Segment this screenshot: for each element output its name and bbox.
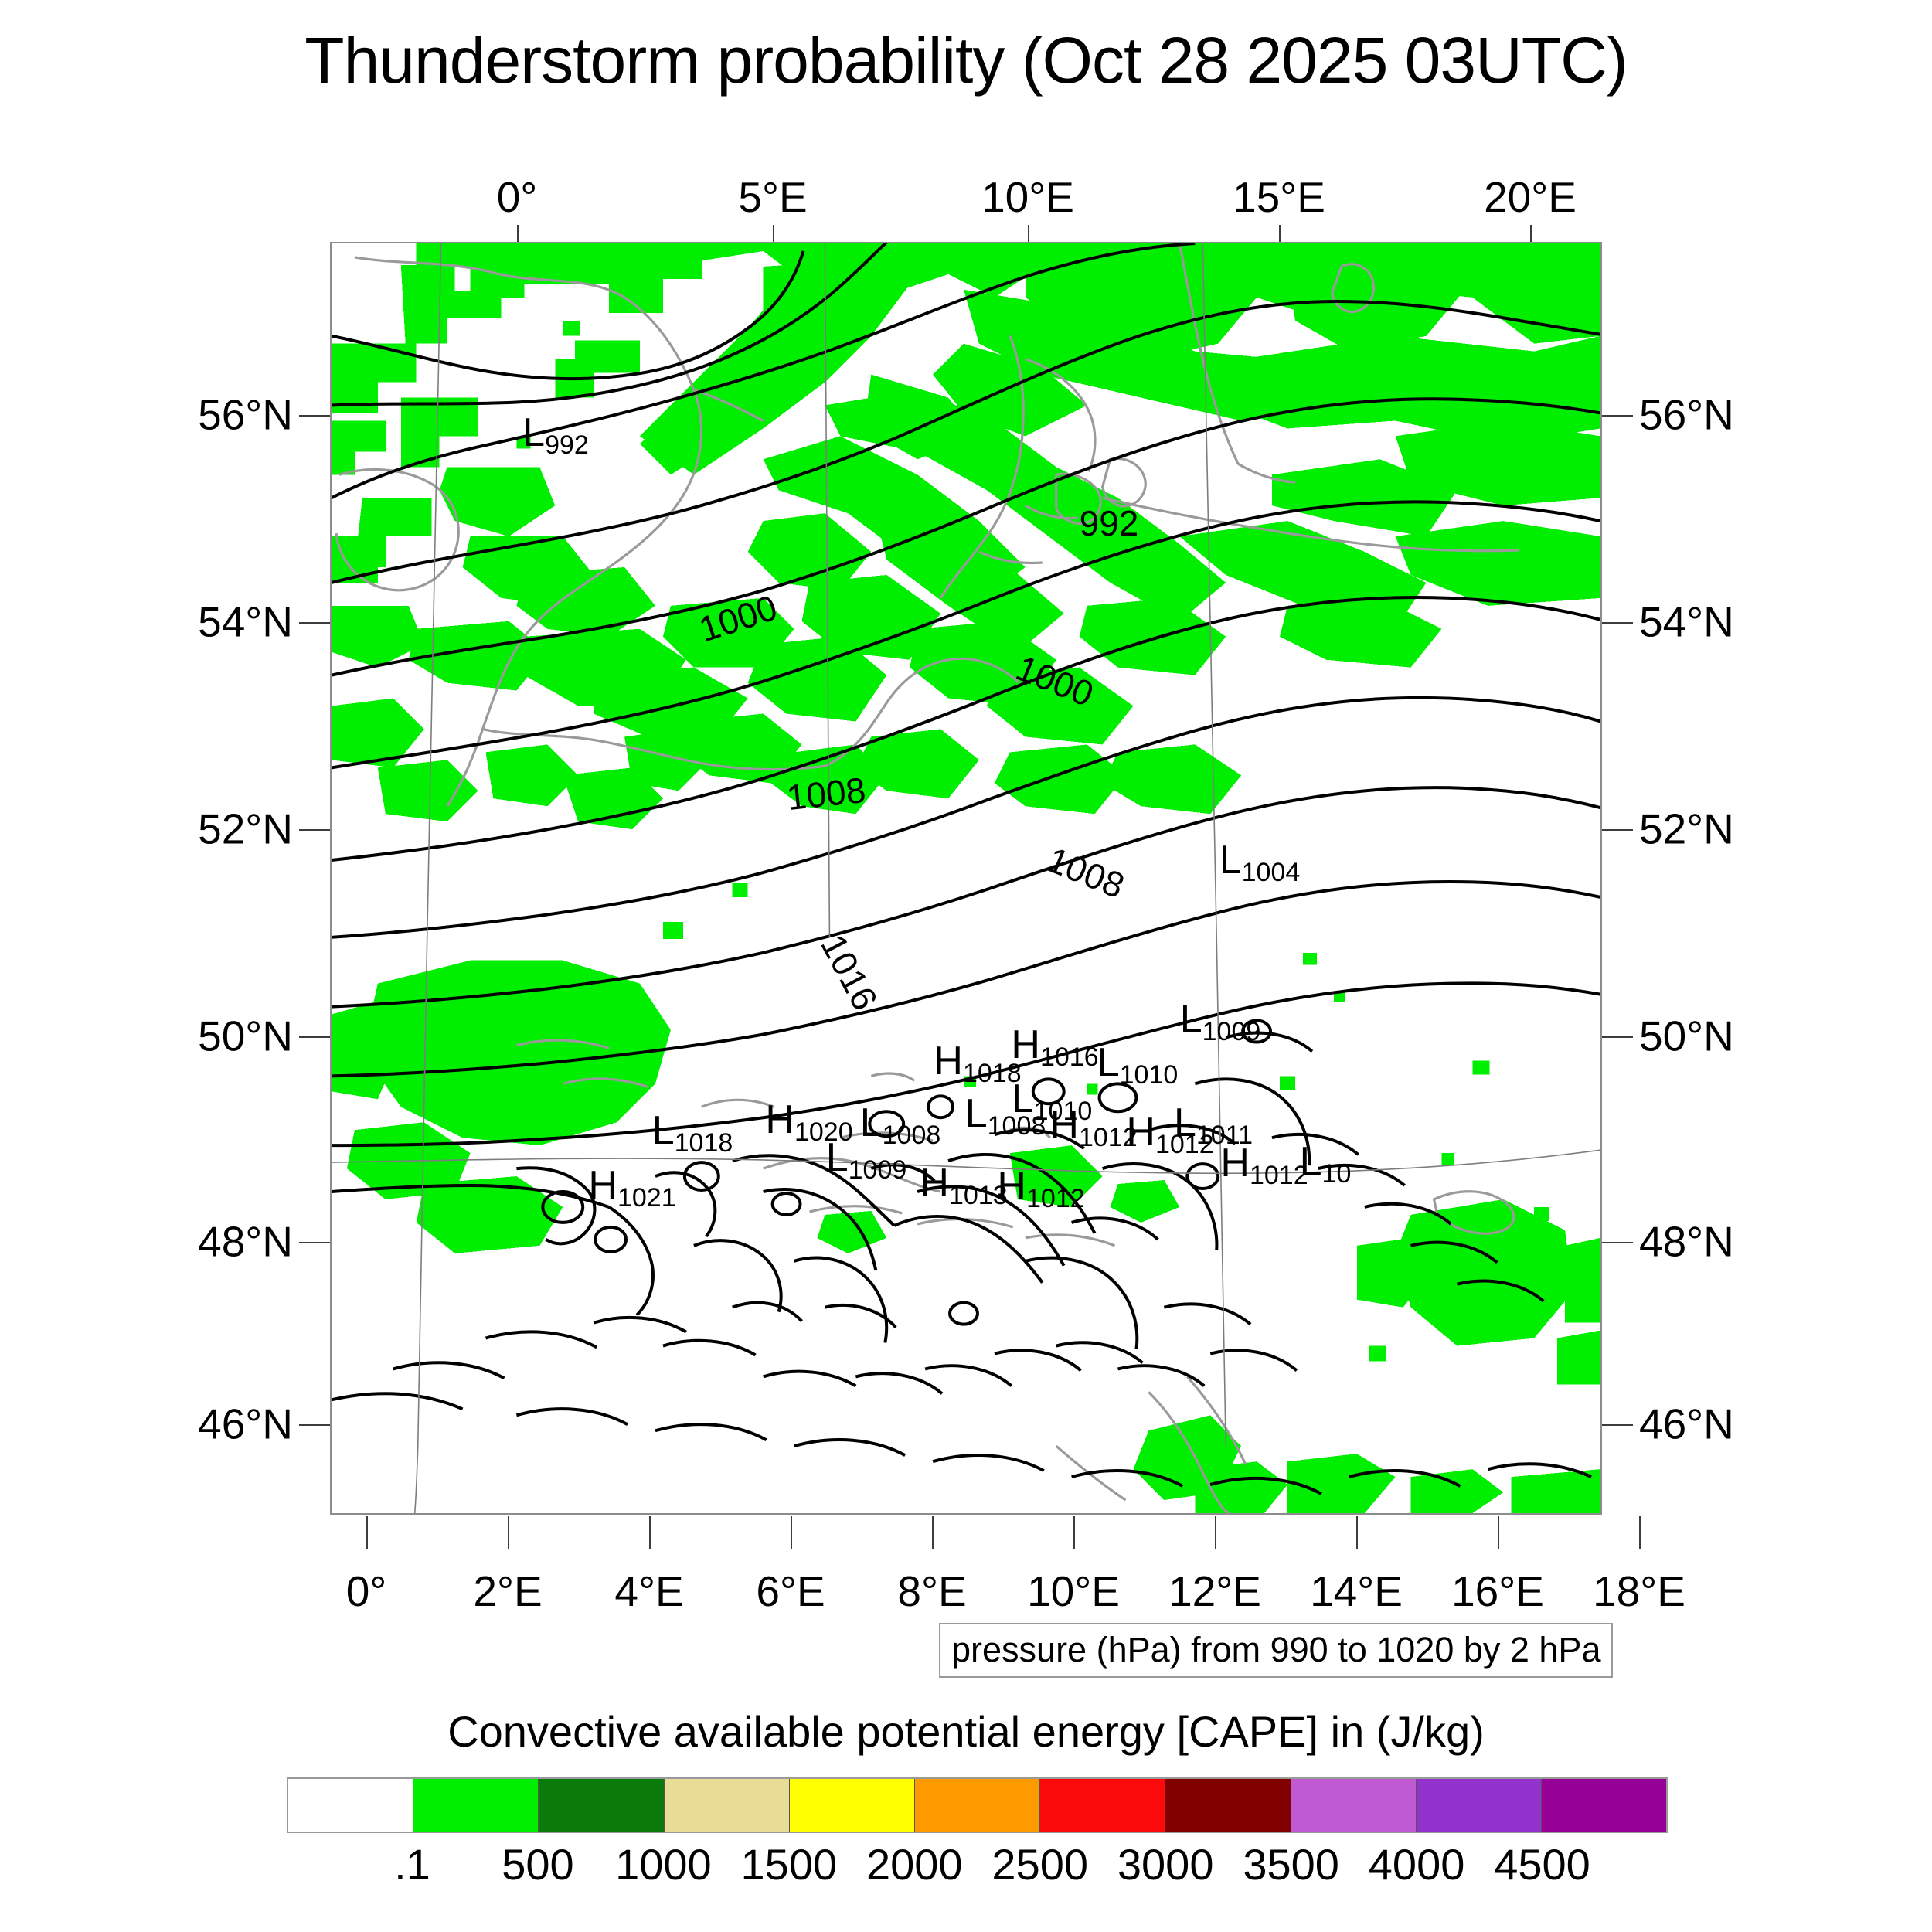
axis-tick [649,1516,651,1549]
lon-label-bottom-5: 10°E [1027,1570,1120,1613]
map-plot-area: 99210001000100810081016 L992L1004L1009H1… [330,242,1602,1515]
lat-label-right-4: 48°N [1639,1221,1734,1264]
colorbar-label-7: 3500 [1243,1843,1339,1886]
lat-label-left-3: 50°N [198,1015,293,1058]
axis-tick [299,1424,330,1426]
axis-tick [299,829,330,831]
colorbar-label-1: 500 [502,1843,573,1886]
lon-label-top-4: 20°E [1484,176,1577,219]
lon-label-bottom-8: 16°E [1451,1570,1544,1613]
lat-label-right-3: 50°N [1639,1015,1734,1058]
colorbar-segment-2 [538,1779,663,1832]
lon-label-bottom-6: 12°E [1168,1570,1261,1613]
colorbar-label-3: 1500 [741,1843,838,1886]
colorbar-segment-3 [664,1779,789,1832]
axis-tick [1602,622,1633,624]
axis-tick [1602,1036,1633,1038]
colorbar-segment-9 [1416,1779,1541,1832]
lat-label-right-0: 56°N [1639,394,1734,437]
lat-label-left-2: 52°N [198,808,293,851]
lon-label-top-3: 15°E [1233,176,1325,219]
axis-tick [1602,829,1633,831]
colorbar-label-9: 4500 [1494,1843,1590,1886]
axis-tick [1530,225,1532,242]
colorbar-segment-5 [914,1779,1039,1832]
colorbar-title: Convective available potential energy [C… [0,1706,1932,1757]
colorbar-segment-6 [1039,1779,1165,1832]
lon-label-top-1: 5°E [738,176,807,219]
axis-tick [299,1036,330,1038]
axis-tick [791,1516,792,1549]
axis-tick [1028,225,1029,242]
axis-tick [299,415,330,417]
lat-label-right-5: 46°N [1639,1403,1734,1446]
colorbar-label-4: 2000 [866,1843,963,1886]
axis-tick [1215,1516,1216,1549]
page-title: Thunderstorm probability (Oct 28 2025 03… [0,23,1932,98]
lat-label-left-1: 54°N [198,601,293,644]
pressure-caption: pressure (hPa) from 990 to 1020 by 2 hPa [939,1623,1613,1678]
axis-tick [299,1242,330,1243]
lat-label-left-5: 46°N [198,1403,293,1446]
colorbar-tick-labels: .150010001500200025003000350040004500 [287,1843,1668,1897]
colorbar-label-2: 1000 [615,1843,712,1886]
axis-tick [517,225,519,242]
lon-label-top-2: 10°E [981,176,1074,219]
lon-label-bottom-4: 8°E [897,1570,966,1613]
axis-tick [1073,1516,1075,1549]
lon-label-bottom-7: 14°E [1310,1570,1403,1613]
lon-label-bottom-9: 18°E [1593,1570,1685,1613]
colorbar-label-0: .1 [394,1843,430,1886]
axis-tick [1279,225,1281,242]
axis-tick [1602,1242,1633,1243]
lat-label-left-0: 56°N [198,394,293,437]
lon-label-bottom-1: 2°E [473,1570,542,1613]
colorbar-label-5: 2500 [992,1843,1088,1886]
map-frame [330,242,1602,1515]
lat-label-right-2: 52°N [1639,808,1734,851]
lon-label-bottom-2: 4°E [614,1570,683,1613]
lon-label-top-0: 0° [497,176,538,219]
lon-label-bottom-3: 6°E [756,1570,825,1613]
lon-label-bottom-0: 0° [346,1570,387,1613]
axis-tick [508,1516,509,1549]
lat-label-left-4: 48°N [198,1221,293,1264]
axis-tick [932,1516,934,1549]
colorbar-label-6: 3000 [1117,1843,1214,1886]
axis-tick [1639,1516,1641,1549]
colorbar-segment-7 [1165,1779,1290,1832]
colorbar-segment-4 [789,1779,914,1832]
colorbar-segment-1 [413,1779,538,1832]
axis-tick [1602,1424,1633,1426]
map-canvas [332,243,1600,1513]
axis-tick [1498,1516,1499,1549]
axis-tick [299,622,330,624]
axis-tick [366,1516,368,1549]
axis-tick [1356,1516,1358,1549]
colorbar-segment-10 [1541,1779,1666,1832]
lat-label-right-1: 54°N [1639,601,1734,644]
axis-tick [773,225,774,242]
axis-tick [1602,415,1633,417]
colorbar[interactable] [287,1777,1668,1833]
colorbar-segment-0 [288,1779,413,1832]
colorbar-segment-8 [1291,1779,1416,1832]
colorbar-label-8: 4000 [1369,1843,1465,1886]
